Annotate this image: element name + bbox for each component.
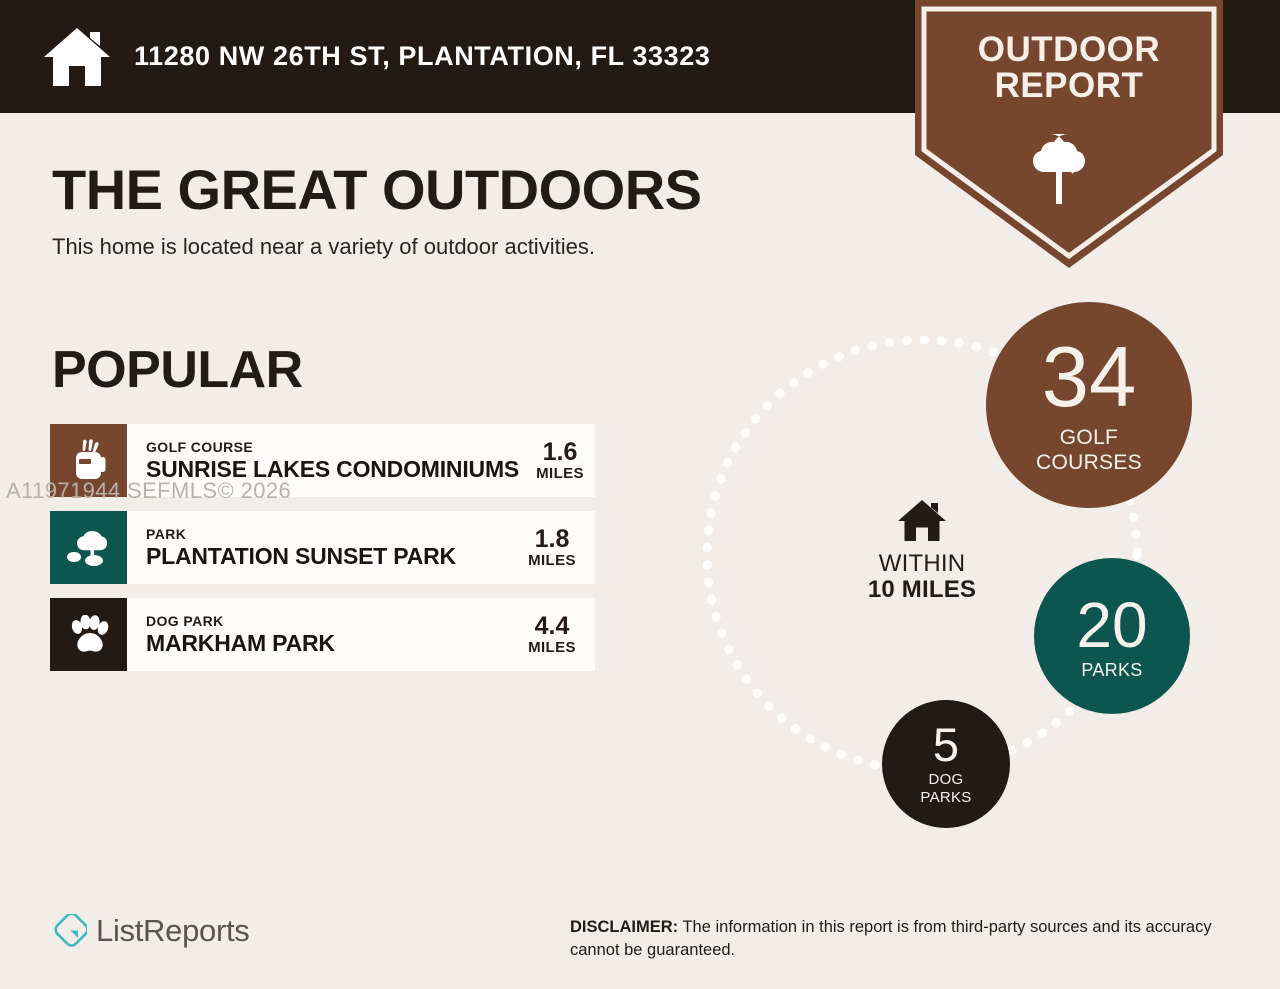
popular-category: DOG PARK: [146, 613, 335, 631]
listreports-logo-icon: [52, 914, 87, 949]
stat-bubble-golf-courses[interactable]: 34 GOLF COURSES: [986, 302, 1192, 508]
stat-bubble-dog-parks[interactable]: 5 DOG PARKS: [882, 700, 1010, 828]
popular-names: DOG PARK MARKHAM PARK: [146, 613, 335, 657]
page-subtitle: This home is located near a variety of o…: [52, 234, 595, 260]
header-address: 11280 NW 26TH ST, PLANTATION, FL 33323: [134, 41, 710, 72]
disclaimer: DISCLAIMER: The information in this repo…: [570, 916, 1230, 963]
popular-distance: 1.8 MILES: [521, 526, 583, 569]
popular-names: GOLF COURSE SUNRISE LAKES CONDOMINIUMS: [146, 439, 519, 483]
popular-distance-value: 1.6: [529, 439, 591, 465]
golf-bag-icon: [69, 439, 109, 483]
popular-icon-tile: [50, 598, 127, 671]
within-label-line1: WITHIN: [842, 551, 1002, 577]
listreports-logo-text: ListReports: [96, 913, 250, 949]
stat-label-line1: PARKS: [1081, 661, 1142, 679]
list-item[interactable]: PARK PLANTATION SUNSET PARK 1.8 MILES: [50, 511, 595, 584]
stat-label-line2: COURSES: [1036, 451, 1142, 475]
listreports-logo[interactable]: ListReports: [52, 913, 250, 949]
popular-names: PARK PLANTATION SUNSET PARK: [146, 526, 456, 570]
popular-name: PLANTATION SUNSET PARK: [146, 543, 456, 569]
popular-distance: 4.4 MILES: [521, 613, 583, 656]
home-icon: [842, 498, 1002, 543]
popular-text: PARK PLANTATION SUNSET PARK 1.8 MILES: [127, 511, 595, 584]
popular-distance-value: 4.4: [521, 613, 583, 639]
popular-category: GOLF COURSE: [146, 439, 519, 457]
popular-name: MARKHAM PARK: [146, 630, 335, 656]
within-label-line2: 10 MILES: [842, 577, 1002, 604]
popular-distance-unit: MILES: [521, 552, 583, 569]
list-item[interactable]: DOG PARK MARKHAM PARK 4.4 MILES: [50, 598, 595, 671]
stat-label-line1: DOG: [928, 771, 963, 789]
popular-distance-unit: MILES: [521, 639, 583, 656]
outdoor-report-badge: OUTDOOR REPORT: [915, 0, 1223, 270]
popular-distance-unit: MILES: [529, 465, 591, 482]
home-icon: [42, 26, 112, 88]
page-title: THE GREAT OUTDOORS: [52, 157, 702, 222]
section-title-popular: POPULAR: [52, 340, 303, 400]
outdoor-counts-diagram: 34 GOLF COURSES 20 PARKS 5 DOG PARKS WIT…: [650, 280, 1250, 880]
disclaimer-label: DISCLAIMER:: [570, 918, 678, 936]
stat-label-line1: GOLF: [1060, 426, 1118, 450]
stat-label-line2: PARKS: [920, 789, 971, 807]
popular-distance-value: 1.8: [521, 526, 583, 552]
stat-count: 20: [1076, 593, 1147, 657]
popular-list: GOLF COURSE SUNRISE LAKES CONDOMINIUMS 1…: [50, 424, 595, 685]
diagram-center-label: WITHIN 10 MILES: [842, 498, 1002, 604]
mls-watermark: A11971944 SEFMLS© 2026: [6, 478, 291, 504]
stat-count: 5: [933, 721, 959, 768]
popular-distance: 1.6 MILES: [529, 439, 591, 482]
stat-count: 34: [1042, 335, 1137, 420]
paw-print-icon: [68, 615, 110, 655]
popular-icon-tile: [50, 511, 127, 584]
popular-text: DOG PARK MARKHAM PARK 4.4 MILES: [127, 598, 595, 671]
park-tree-icon: [67, 528, 111, 568]
popular-category: PARK: [146, 526, 456, 544]
stat-bubble-parks[interactable]: 20 PARKS: [1034, 558, 1190, 714]
